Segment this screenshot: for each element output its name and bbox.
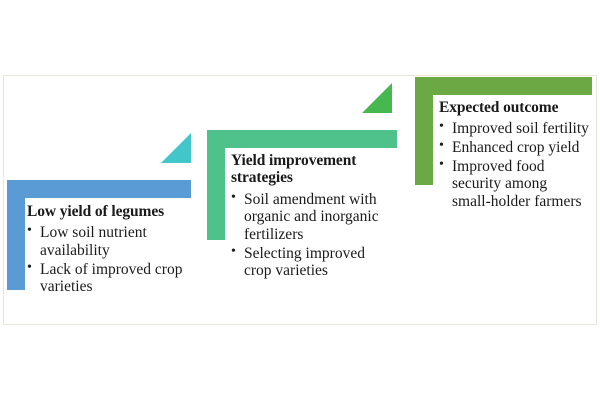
step-3-bullet-item: Improved food security among small-holde… (439, 158, 589, 211)
step-1-bar (7, 180, 191, 198)
step-3-text-block: Expected outcome Improved soil fertility… (439, 99, 589, 212)
step-2-heading: Yield improvement strategies (231, 152, 393, 187)
step-1-bullet-list: Low soil nutrient availability Lack of i… (27, 224, 187, 296)
step-3-bar (415, 77, 592, 95)
step-2-bar (207, 130, 397, 148)
step-3-bullet-list: Improved soil fertility Enhanced crop yi… (439, 120, 589, 210)
step-1-stem (7, 180, 25, 290)
step-3-heading: Expected outcome (439, 99, 589, 116)
step-3-bullet-item: Improved soil fertility (439, 120, 589, 138)
step-2-bullet-list: Soil amendment with organic and inorgani… (231, 191, 393, 280)
step-2-stem (207, 130, 225, 240)
step-1-heading: Low yield of legumes (27, 203, 187, 220)
step-2-text-block: Yield improvement strategies Soil amendm… (231, 152, 393, 281)
step-3-stem (415, 77, 433, 185)
step-1-bullet-item: Low soil nutrient availability (27, 224, 187, 259)
step-1-arrow-triangle-icon (161, 133, 191, 163)
step-1-text-block: Low yield of legumes Low soil nutrient a… (27, 203, 187, 297)
step-2-bullet-item: Selecting improved crop varieties (231, 245, 393, 280)
step-3-bullet-item: Enhanced crop yield (439, 139, 589, 157)
diagram-canvas: Low yield of legumes Low soil nutrient a… (0, 0, 600, 400)
step-1-bullet-item: Lack of improved crop varieties (27, 261, 187, 296)
step-2-arrow-triangle-icon (362, 83, 392, 113)
step-2-bullet-item: Soil amendment with organic and inorgani… (231, 191, 393, 244)
